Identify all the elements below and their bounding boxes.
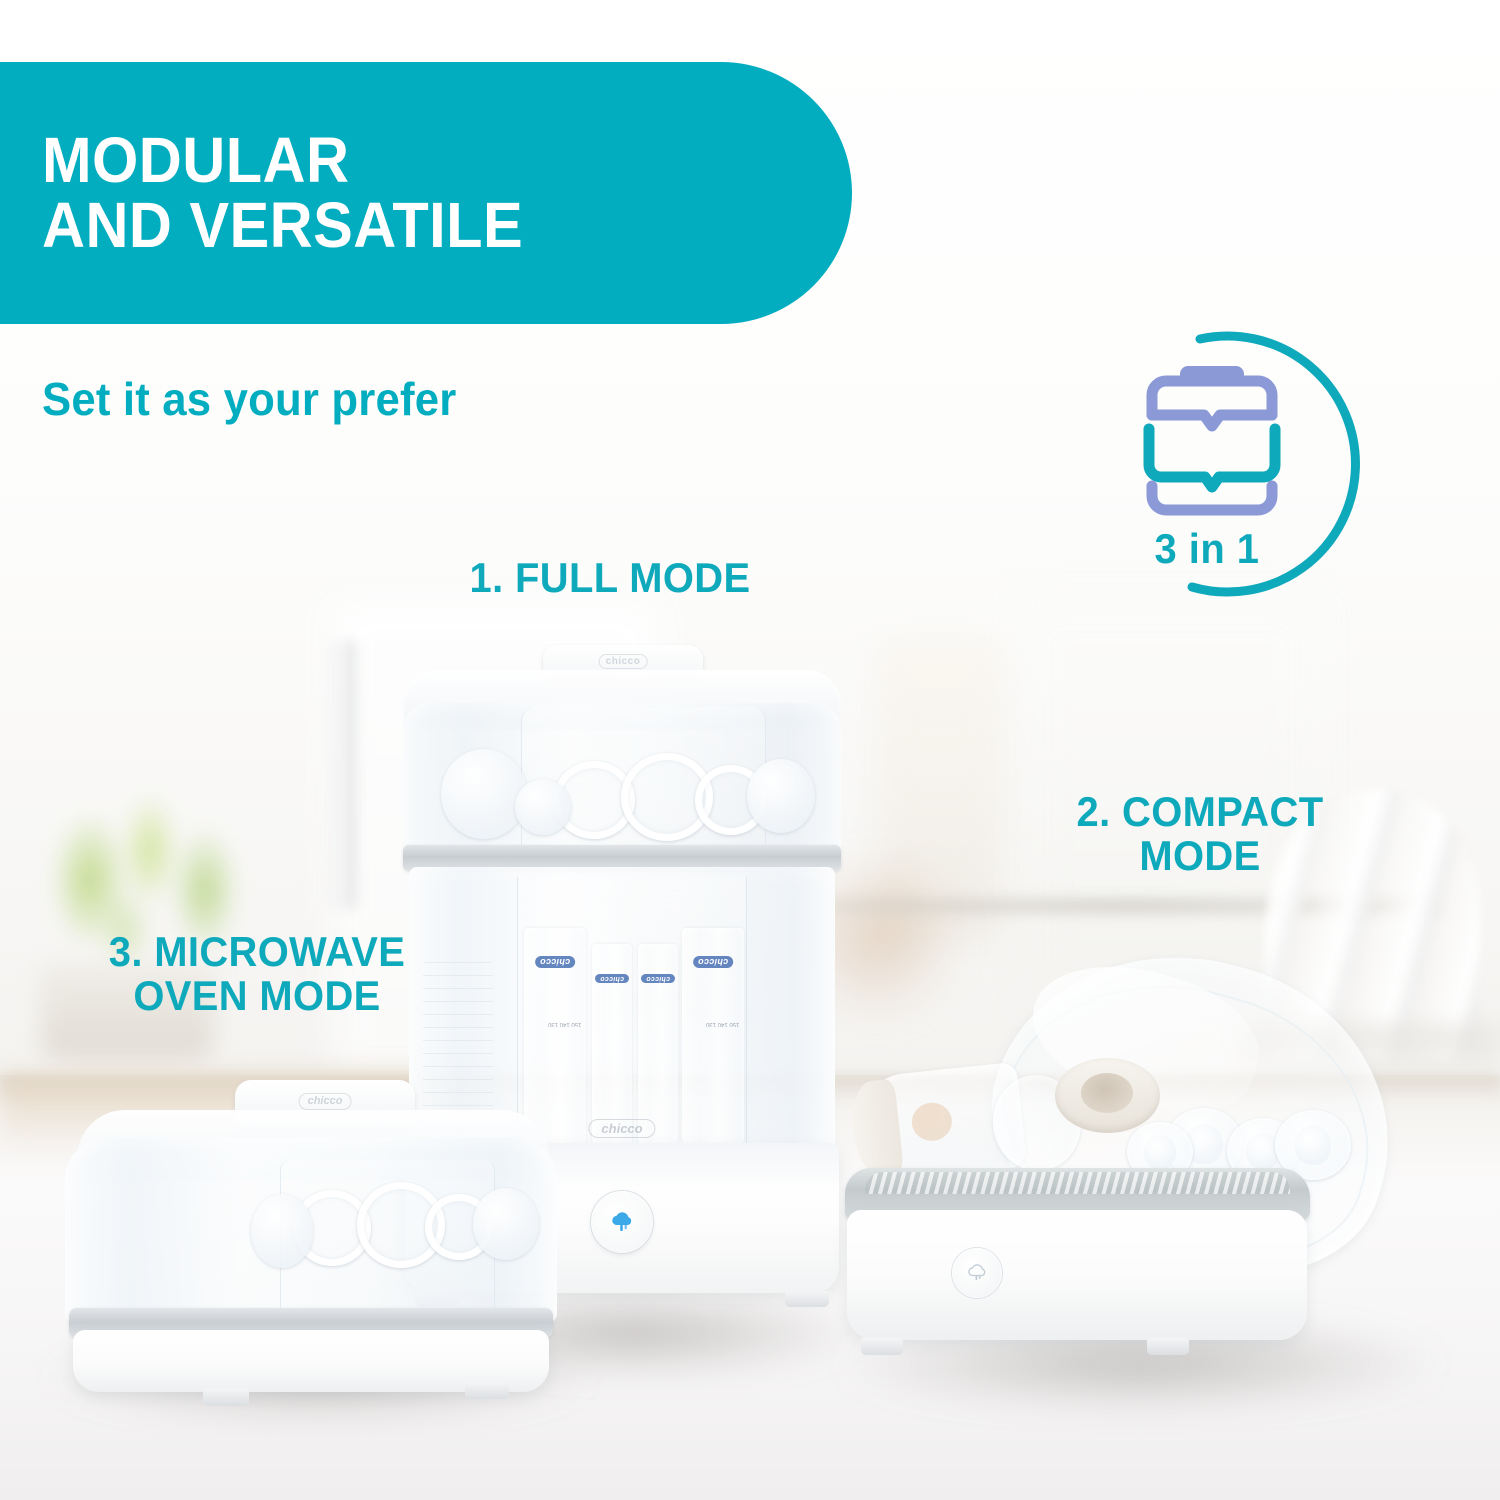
stacked-modules-icon (1132, 353, 1292, 518)
subtitle: Set it as your prefer (42, 372, 456, 426)
badge-label: 3 in 1 (1126, 525, 1288, 573)
mode-label-microwave: 3. MICROWAVE OVEN MODE (34, 930, 481, 1017)
mode-label-compact: 2. COMPACT MODE (1015, 790, 1386, 877)
mode-label-full: 1. FULL MODE (411, 556, 810, 600)
header-banner: MODULAR AND VERSATILE (0, 62, 852, 324)
three-in-one-badge: 3 in 1 (1100, 325, 1385, 610)
page-title: MODULAR AND VERSATILE (42, 128, 523, 259)
